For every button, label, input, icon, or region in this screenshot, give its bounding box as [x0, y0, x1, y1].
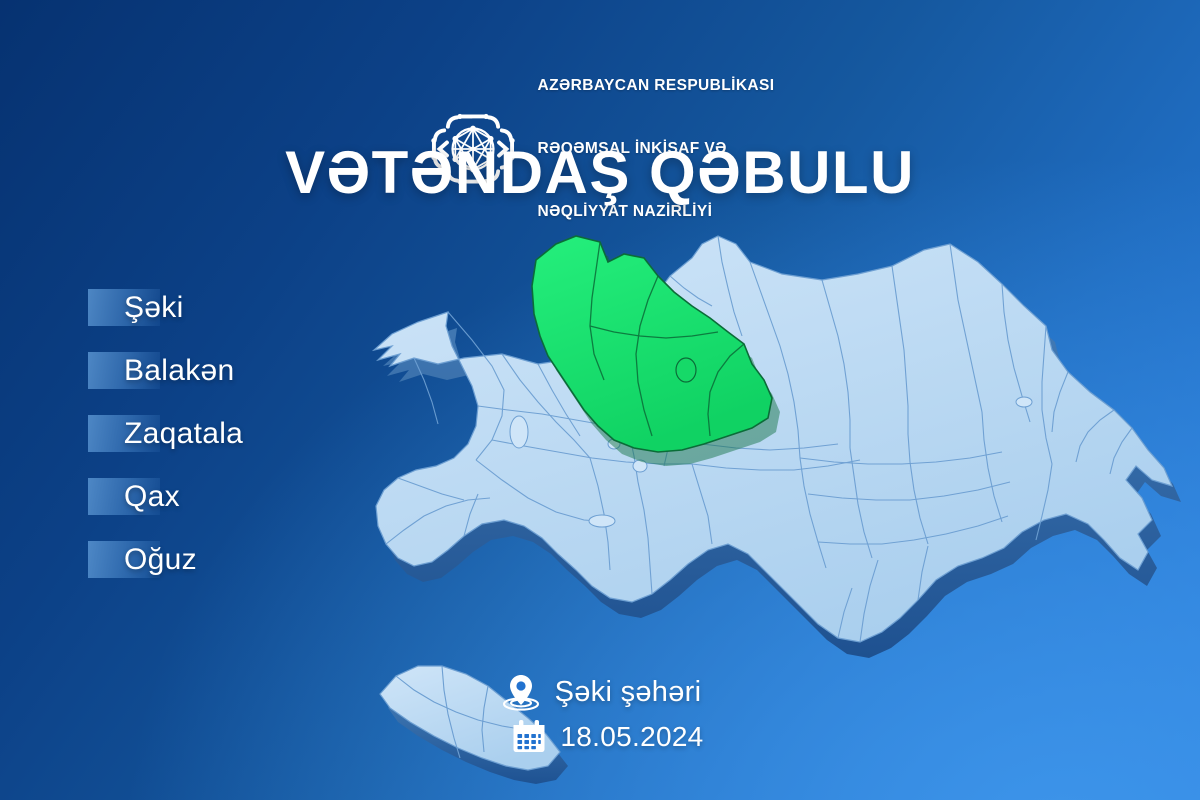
- poster-canvas: AZƏRBAYCAN RESPUBLİKASI RƏQƏMSAL İNKİŞAF…: [0, 0, 1200, 800]
- list-item[interactable]: Oğuz: [88, 538, 388, 582]
- azerbaijan-map: [352, 214, 1180, 674]
- list-item[interactable]: Balakən: [88, 349, 388, 393]
- list-item-label: Qax: [88, 480, 180, 514]
- page-title: VƏTƏNDAŞ QƏBULU: [0, 138, 1200, 207]
- footer-date: 18.05.2024: [510, 718, 703, 756]
- location-pin-icon: [499, 672, 543, 712]
- footer-location: Şəki şəhəri: [499, 672, 702, 712]
- list-item[interactable]: Zaqatala: [88, 412, 388, 456]
- ministry-line-1: AZƏRBAYCAN RESPUBLİKASI: [538, 75, 775, 96]
- district-list: Şəki Balakən Zaqatala Qax Oğuz: [88, 286, 388, 601]
- footer: Şəki şəhəri: [0, 672, 1200, 756]
- list-item[interactable]: Qax: [88, 475, 388, 519]
- footer-location-label: Şəki şəhəri: [555, 676, 702, 709]
- footer-date-label: 18.05.2024: [560, 721, 703, 753]
- list-item[interactable]: Şəki: [88, 286, 388, 330]
- calendar-icon: [510, 718, 548, 756]
- list-item-label: Şəki: [88, 291, 184, 325]
- map-svg: [352, 214, 1180, 674]
- list-item-label: Oğuz: [88, 543, 197, 577]
- list-item-label: Zaqatala: [88, 417, 243, 451]
- list-item-label: Balakən: [88, 354, 235, 388]
